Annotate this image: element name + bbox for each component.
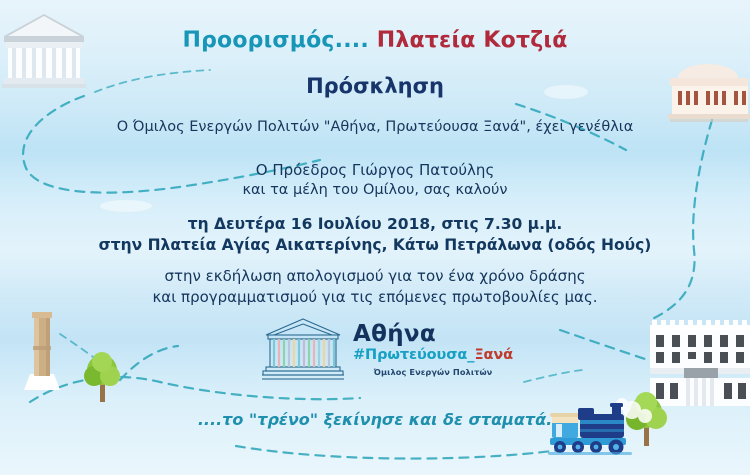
logo-main-title: Αθήνα bbox=[353, 323, 513, 346]
logo-text-block: Αθήνα #Πρωτεύουσα_Ξανά Όμιλος Ενεργών Πο… bbox=[353, 321, 513, 376]
logo-hashtag: #Πρωτεύουσα_Ξανά bbox=[353, 347, 513, 364]
poster-tagline: ....το "τρένο" ξεκίνησε και δε σταματά. bbox=[0, 410, 750, 429]
organization-logo: Αθήνα #Πρωτεύουσα_Ξανά Όμιλος Ενεργών Πο… bbox=[262, 313, 502, 385]
parthenon-logo-icon bbox=[262, 315, 344, 383]
logo-organization-name: Όμιλος Ενεργών Πολιτών bbox=[353, 367, 513, 377]
title-destination-label: Προορισμός.... bbox=[182, 28, 368, 53]
invitation-poster: Προορισμός.... Πλατεία Κοτζιά Πρόσκληση … bbox=[0, 0, 750, 475]
body-line-president: Ο Πρόεδρος Γιώργος Πατούλης bbox=[0, 161, 750, 179]
poster-title-destination: Προορισμός.... Πλατεία Κοτζιά bbox=[0, 28, 750, 53]
body-line-purpose-first: στην εκδήλωση απολογισμού για τον ένα χρ… bbox=[0, 267, 750, 285]
body-line-venue: στην Πλατεία Αγίας Αικατερίνης, Κάτω Πετ… bbox=[0, 236, 750, 254]
body-line-members: και τα μέλη του Ομίλου, σας καλούν bbox=[0, 182, 750, 198]
title-destination-place: Πλατεία Κοτζιά bbox=[377, 28, 568, 53]
logo-hashtag-suffix: Ξανά bbox=[474, 347, 513, 363]
body-line-birthday: Ο Όμιλος Ενεργών Πολιτών "Αθήνα, Πρωτεύο… bbox=[0, 119, 750, 135]
poster-content: Προορισμός.... Πλατεία Κοτζιά Πρόσκληση … bbox=[0, 0, 750, 475]
logo-hashtag-prefix: #Πρωτεύουσα_ bbox=[353, 347, 474, 363]
poster-title-invitation: Πρόσκληση bbox=[0, 74, 750, 98]
body-line-purpose-second: και προγραμματισμού για τις επόμενες πρω… bbox=[0, 288, 750, 306]
body-line-date: τη Δευτέρα 16 Ιουλίου 2018, στις 7.30 μ.… bbox=[0, 215, 750, 233]
